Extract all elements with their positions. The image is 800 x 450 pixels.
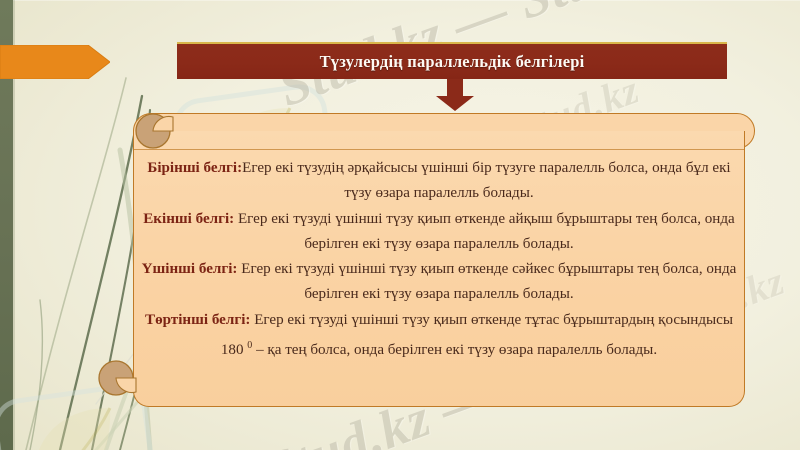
- rule-item-1: Бірінші белгі:Егер екі түзудің әрқайсысы…: [141, 156, 737, 207]
- rule-text-3: Егер екі түзуді үшінші түзу қиып өткенде…: [237, 261, 736, 302]
- arrow-down-icon: [434, 79, 476, 111]
- scroll-text-block: Бірінші белгі:Егер екі түзудің әрқайсысы…: [141, 156, 737, 363]
- arrow-right-tag-icon: [0, 45, 110, 79]
- rule-label-1: Бірінші белгі:: [147, 160, 242, 176]
- scroll-roll-icon: [133, 113, 175, 149]
- rule-text-4-after: – қа тең болса, онда берілген екі түзу ө…: [252, 342, 657, 358]
- rule-text-2: Егер екі түзуді үшінші түзу қиып өткенде…: [234, 211, 735, 252]
- rule-label-2: Екінші белгі:: [143, 211, 234, 227]
- scroll-fold-line: [134, 149, 744, 150]
- rule-text-1: Егер екі түзудің әрқайсысы үшінші бір тү…: [242, 160, 731, 201]
- rule-item-4: Төртінші белгі: Егер екі түзуді үшінші т…: [141, 308, 737, 364]
- slide-canvas: Stud.kz — Stud.kz .kz — Stud.kz Stud.kz …: [0, 0, 800, 450]
- rule-item-2: Екінші белгі: Егер екі түзуді үшінші түз…: [141, 207, 737, 258]
- rule-label-4: Төртінші белгі:: [145, 312, 250, 328]
- rule-label-3: Үшінші белгі:: [142, 261, 238, 277]
- scroll-roll-icon: [96, 360, 138, 396]
- page-title: Түзулердің параллельдік белгілері: [320, 52, 585, 72]
- rule-item-3: Үшінші белгі: Егер екі түзуді үшінші түз…: [141, 257, 737, 308]
- slide-title-bar: Түзулердің параллельдік белгілері: [177, 42, 727, 79]
